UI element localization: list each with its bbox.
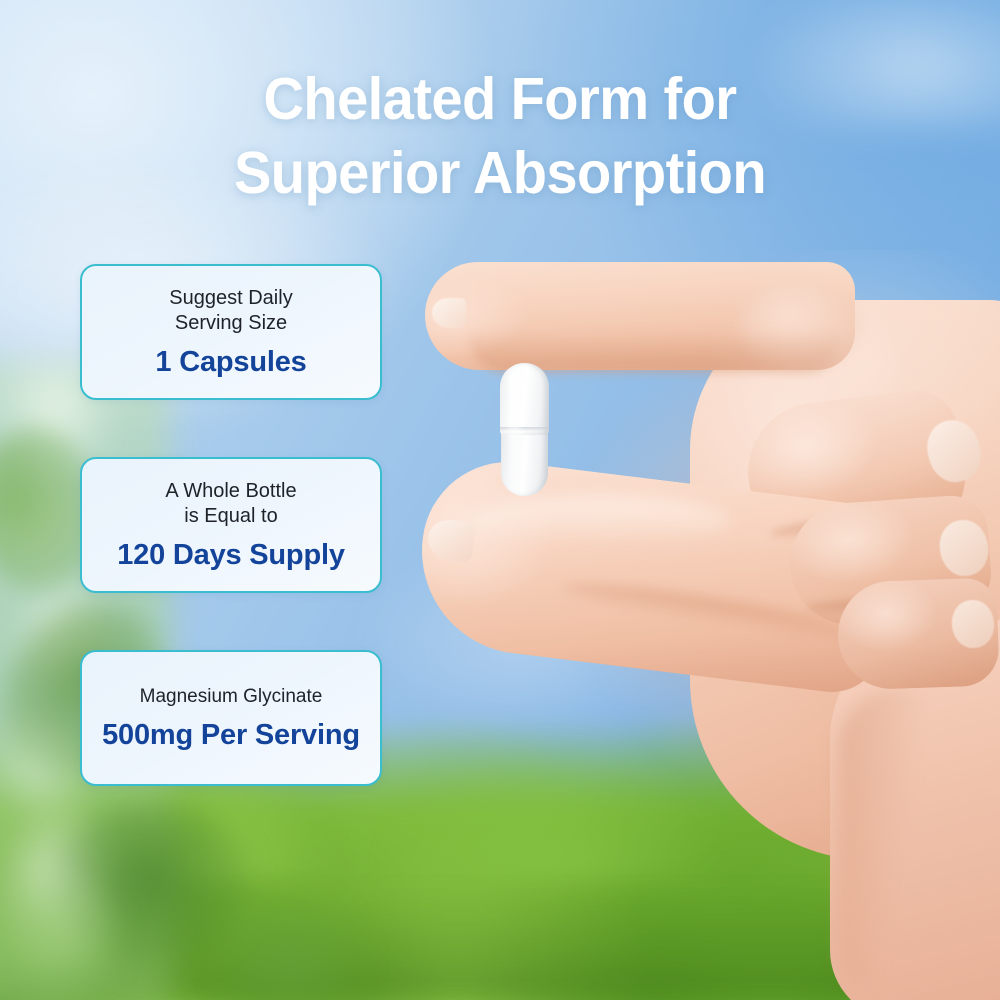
index-finger-nail: [432, 298, 466, 328]
info-card-serving-size: Suggest Daily Serving Size 1 Capsules: [80, 264, 382, 400]
info-card-subtitle: A Whole Bottle is Equal to: [165, 479, 296, 529]
headline-line-2: Superior Absorption: [25, 136, 975, 210]
info-card-subtitle: Magnesium Glycinate: [140, 684, 323, 709]
info-card-subtitle-line-1: Suggest Daily: [169, 287, 292, 309]
capsule: [500, 363, 549, 496]
info-card-days-supply: A Whole Bottle is Equal to 120 Days Supp…: [80, 457, 382, 593]
info-card-dosage: Magnesium Glycinate 500mg Per Serving: [80, 650, 382, 786]
info-card-subtitle-line-1: Magnesium Glycinate: [140, 686, 323, 707]
info-card-subtitle: Suggest Daily Serving Size: [169, 286, 292, 336]
info-card-subtitle-line-1: A Whole Bottle: [165, 480, 296, 502]
info-card-subtitle-line-2: Serving Size: [169, 311, 292, 336]
info-card-highlight: 120 Days Supply: [117, 539, 345, 572]
info-card-subtitle-line-2: is Equal to: [165, 504, 296, 529]
info-card-list: Suggest Daily Serving Size 1 Capsules A …: [80, 264, 382, 786]
product-banner: Chelated Form for Superior Absorption Su…: [0, 0, 1000, 1000]
info-card-highlight: 1 Capsules: [155, 346, 306, 379]
capsule-seam: [500, 427, 549, 431]
headline: Chelated Form for Superior Absorption: [25, 62, 975, 210]
wrist-shadow: [838, 690, 918, 990]
headline-line-1: Chelated Form for: [263, 66, 736, 132]
info-card-highlight: 500mg Per Serving: [102, 719, 360, 752]
capsule-highlight: [509, 371, 520, 483]
capsule-cap: [500, 363, 549, 435]
thumb-highlight: [470, 496, 730, 546]
